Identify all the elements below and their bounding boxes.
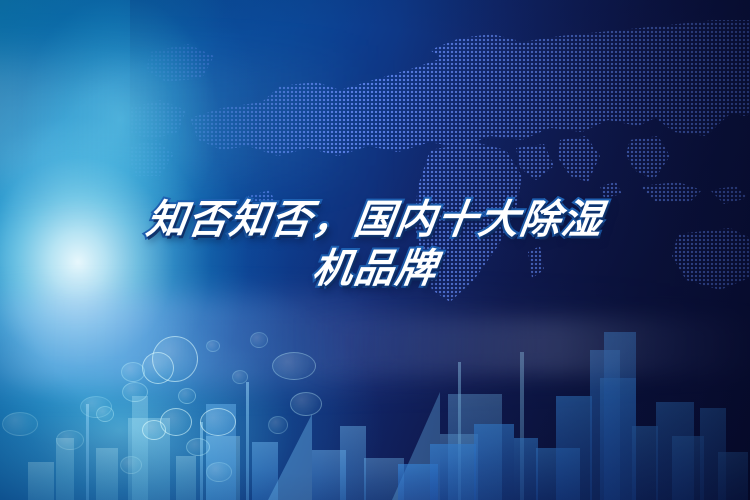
building bbox=[206, 404, 236, 500]
building bbox=[440, 434, 478, 500]
bubble bbox=[120, 456, 142, 474]
building bbox=[632, 426, 658, 500]
building-angled-roof bbox=[392, 392, 440, 500]
building-spire bbox=[200, 422, 203, 500]
building bbox=[312, 450, 346, 500]
building bbox=[514, 438, 538, 500]
building bbox=[398, 464, 438, 500]
bubble bbox=[80, 396, 112, 418]
bubble bbox=[160, 408, 192, 436]
building-angled-roof bbox=[268, 414, 312, 500]
bubble bbox=[206, 462, 232, 482]
top-left-haze bbox=[0, 60, 380, 180]
building bbox=[28, 462, 54, 500]
building bbox=[474, 424, 514, 500]
title-line-1: 知否知否，国内十大除湿 bbox=[0, 196, 750, 245]
building bbox=[132, 396, 148, 500]
bubble bbox=[200, 408, 236, 436]
building bbox=[656, 402, 694, 500]
building bbox=[536, 448, 580, 500]
building bbox=[430, 444, 476, 500]
building bbox=[718, 452, 748, 500]
building-spire bbox=[86, 404, 89, 500]
bubble bbox=[178, 388, 196, 404]
banner-title: 知否知否，国内十大除湿 机品牌 bbox=[0, 196, 750, 294]
building bbox=[600, 378, 636, 500]
bubble bbox=[142, 420, 166, 440]
title-line-2: 机品牌 bbox=[0, 245, 750, 294]
bubble bbox=[2, 412, 38, 436]
bubble bbox=[186, 438, 210, 456]
bubble bbox=[56, 430, 84, 450]
building bbox=[206, 436, 240, 500]
building bbox=[176, 456, 196, 500]
building bbox=[700, 408, 726, 500]
building-spire bbox=[246, 382, 249, 500]
building bbox=[340, 426, 366, 500]
promo-banner: 知否知否，国内十大除湿 机品牌 bbox=[0, 0, 750, 500]
bubble bbox=[290, 392, 322, 416]
building bbox=[252, 442, 278, 500]
building bbox=[672, 436, 704, 500]
bubble bbox=[268, 416, 288, 434]
building bbox=[364, 458, 404, 500]
building bbox=[128, 418, 170, 500]
building bbox=[556, 396, 592, 500]
bubble bbox=[96, 406, 114, 422]
horizontal-haze-streak-secondary bbox=[300, 318, 750, 374]
building bbox=[56, 438, 74, 500]
building bbox=[96, 448, 118, 500]
building bbox=[448, 394, 502, 500]
